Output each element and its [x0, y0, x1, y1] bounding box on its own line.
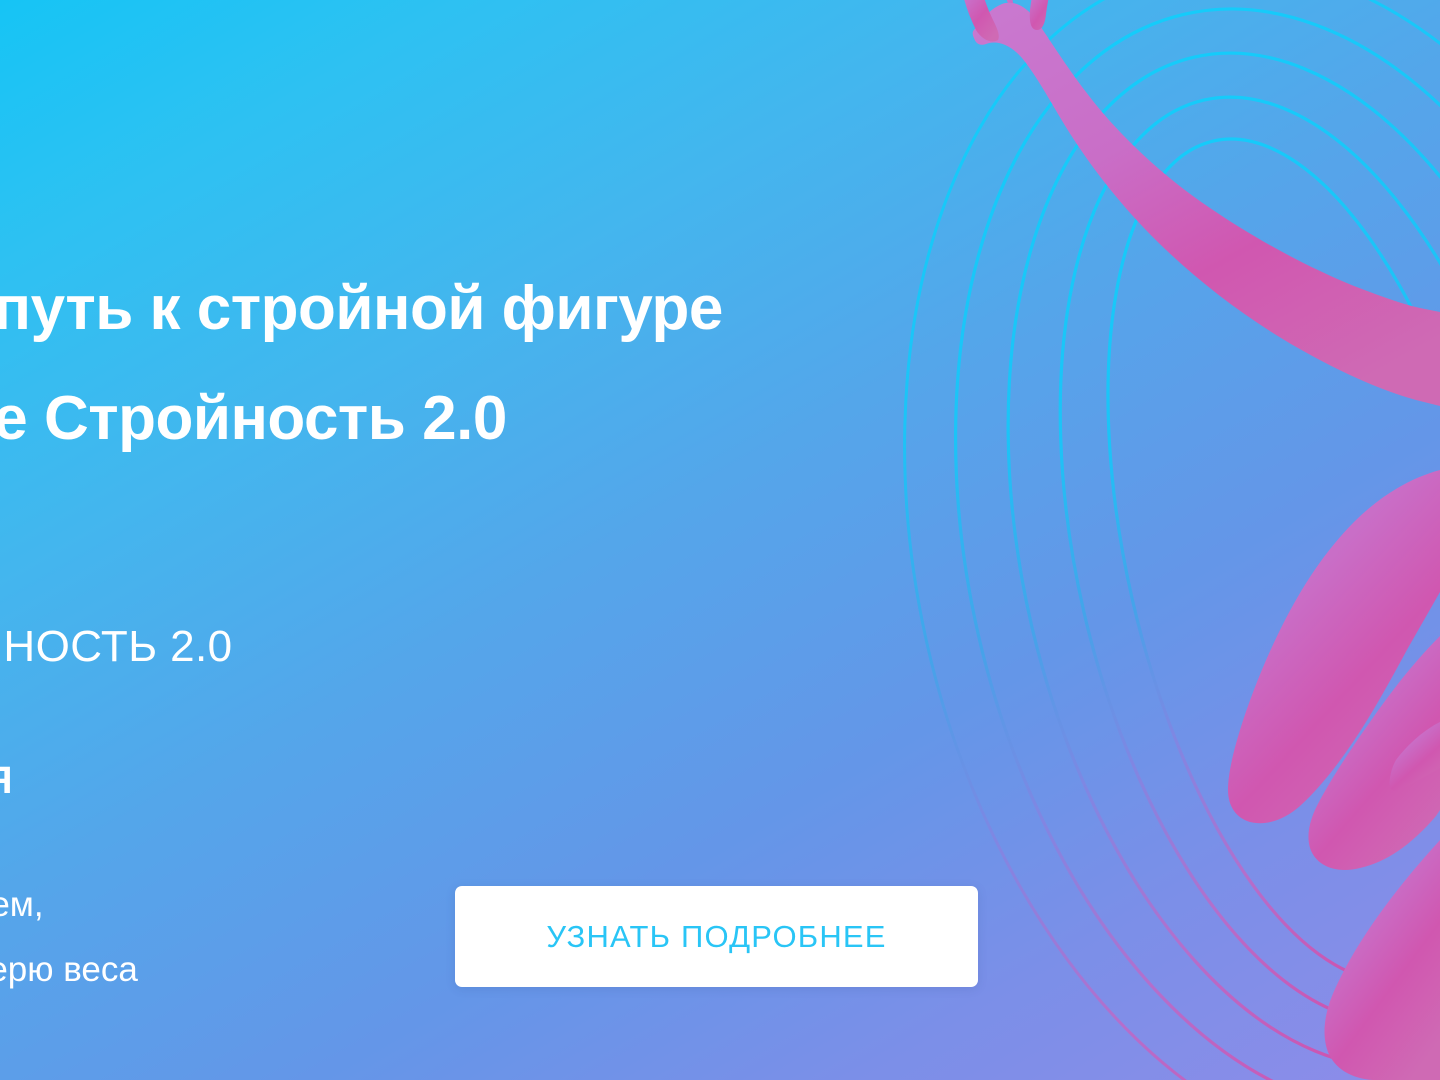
promo-banner: жите путь к стройной фигуре афоне Стройн… — [0, 0, 1440, 1080]
program-subtitle: СТРОЙНОСТЬ 2.0 — [0, 622, 232, 672]
start-date-label: РЕЛЯ — [0, 760, 13, 803]
page-title: жите путь к стройной фигуре афоне Стройн… — [0, 254, 1192, 474]
description-line-1: лои проблем, — [0, 872, 138, 937]
headline-line-1: жите путь к стройной фигуре — [0, 254, 1192, 364]
learn-more-button[interactable]: УЗНАТЬ ПОДРОБНЕЕ — [455, 886, 978, 987]
headline-line-2: афоне Стройность 2.0 — [0, 364, 1192, 474]
banner-content: жите путь к стройной фигуре афоне Стройн… — [0, 0, 1040, 1080]
banner-description: лои проблем, дляют потерю веса — [0, 872, 138, 1002]
description-line-2: дляют потерю веса — [0, 937, 138, 1002]
